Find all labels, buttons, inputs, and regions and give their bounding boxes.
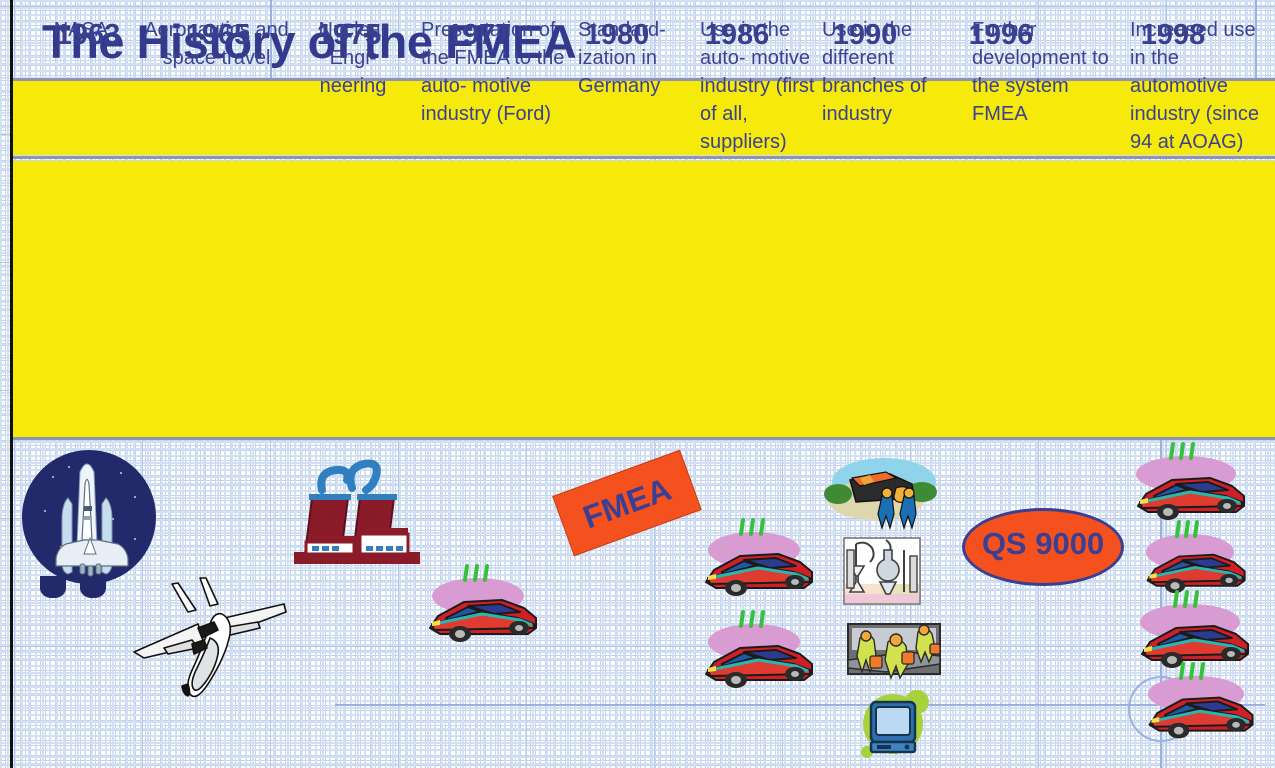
qs9000-oval-shape: QS 9000 [962,508,1124,586]
fmea-banner: FMEA [560,472,694,534]
assembly-line-workers-icon [846,622,942,682]
description-band [13,161,1275,437]
sports-car-icon [1140,682,1264,752]
panel-bottom-line [13,437,1275,440]
description-1975: Nuclear Engi- neering [298,16,408,100]
sports-car-1998-4 [1140,672,1264,742]
nuclear-power-plant-icon [282,452,432,572]
description-1980: Standard- ization in Germany [578,16,694,100]
fighter-jet-icon [126,578,296,698]
fighter-jet-illustration [126,578,296,698]
year-separator-line [13,156,1275,159]
sports-car-icon [700,538,820,610]
construction-workers-icon [826,448,946,540]
description-1996: Further development to the system FMEA [972,16,1120,128]
television-icon [855,684,931,762]
television-illustration [855,684,931,762]
sports-car-1998-1 [1128,452,1256,524]
description-1986: Use in the auto- motive industry (first … [700,16,820,156]
chemistry-lab-icon [842,536,922,606]
qs9000-badge: QS 9000 [962,508,1124,586]
sports-car-1998-2 [1138,530,1256,596]
sports-car-1998-3 [1132,600,1260,672]
sports-car-icon [424,584,544,656]
sports-car-1977 [424,574,544,646]
slide-canvas: The History of the FMEA 1963 1965 1975 1… [0,0,1275,768]
description-1963: NASA [22,16,140,44]
sports-car-1986-top [700,528,820,600]
horizontal-accent-rule-bottom [335,704,1265,706]
assembly-line-illustration [846,622,942,682]
sports-car-1986-bottom [700,620,820,692]
qs9000-label: QS 9000 [965,511,1121,577]
description-1998: Increased use in the automotive industry… [1130,16,1262,156]
construction-scene-illustration [826,448,946,540]
sports-car-icon [1128,462,1256,534]
description-1990: Use in the different branches of industr… [822,16,968,128]
lab-equipment-illustration [842,536,922,606]
sports-car-icon [700,630,820,702]
description-1977: Presentation of the FMEA to the auto- mo… [421,16,573,128]
nuclear-plant-illustration [282,452,432,572]
description-1965: Aeronautics and space travel [143,16,290,72]
